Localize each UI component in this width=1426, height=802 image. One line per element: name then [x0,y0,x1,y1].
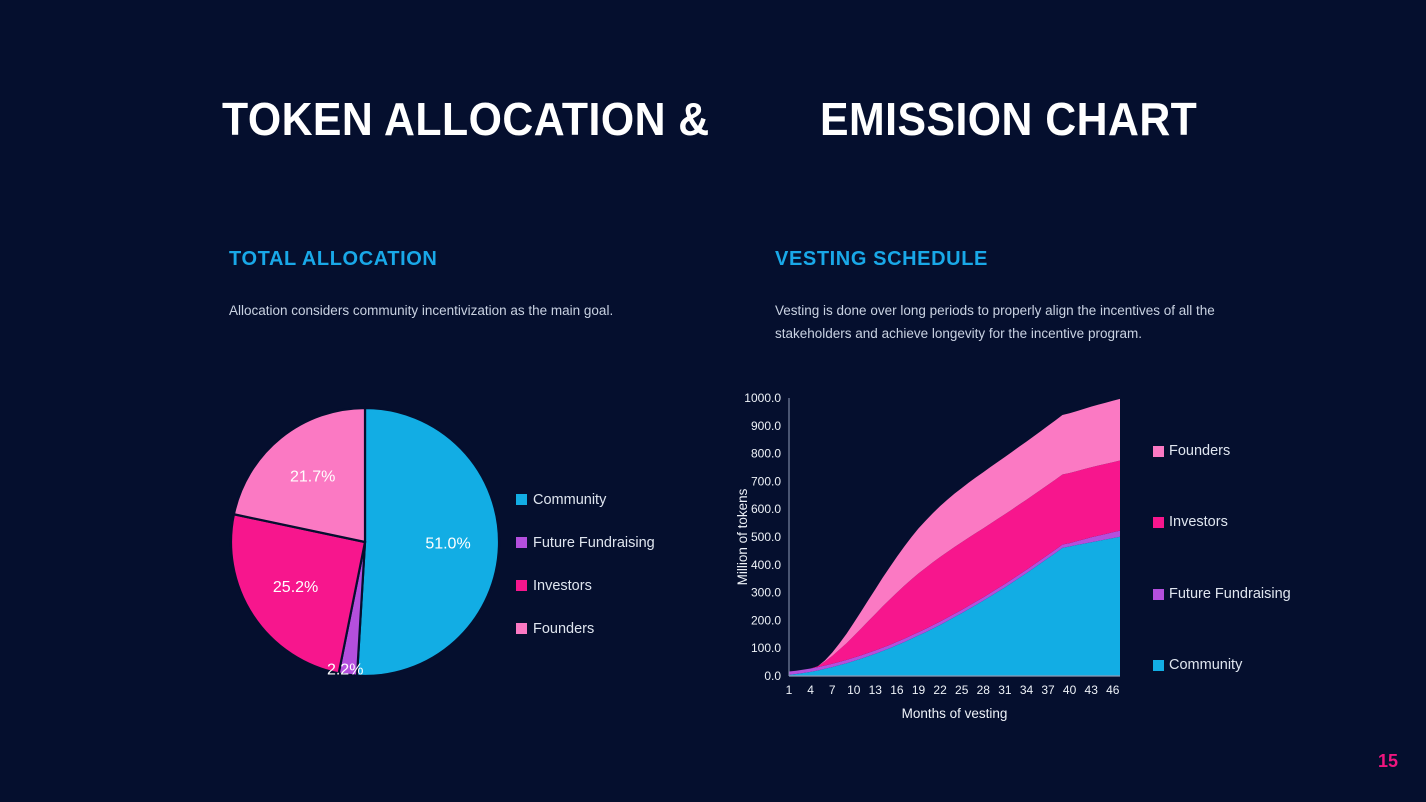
legend-label-investors: Investors [533,578,592,594]
area-legend-item-founders[interactable]: Founders [1153,443,1230,459]
legend-swatch-founders [516,623,527,634]
area-chart-svg: 0.0100.0200.0300.0400.0500.0600.0700.080… [735,388,1135,723]
x-tick-label: 31 [998,683,1012,697]
legend-item-investors[interactable]: Investors [516,564,655,607]
x-tick-label: 22 [933,683,947,697]
y-tick-label: 200.0 [751,613,781,627]
legend-swatch-community [516,494,527,505]
x-tick-label: 37 [1041,683,1055,697]
x-tick-label: 10 [847,683,861,697]
area-legend-swatch-future-fundraising [1153,589,1164,600]
area-legend-swatch-founders [1153,446,1164,457]
allocation-pie-chart: 51.0%2.2%25.2%21.7% Community Future Fun… [225,392,690,692]
total-allocation-panel: TOTAL ALLOCATION Allocation considers co… [229,249,649,322]
legend-item-founders[interactable]: Founders [516,607,655,650]
legend-item-future-fundraising[interactable]: Future Fundraising [516,521,655,564]
vesting-area-chart: 0.0100.0200.0300.0400.0500.0600.0700.080… [735,388,1295,723]
pie-percent-label: 21.7% [290,469,335,486]
x-tick-label: 19 [912,683,926,697]
pie-percent-label: 51.0% [425,536,470,553]
y-tick-label: 300.0 [751,586,781,600]
area-legend-swatch-community [1153,660,1164,671]
y-tick-label: 100.0 [751,641,781,655]
vesting-schedule-heading: VESTING SCHEDULE [775,249,1235,269]
pie-percent-label: 2.2% [327,662,363,679]
pie-chart-legend: Community Future Fundraising Investors F… [516,478,655,650]
x-tick-label: 28 [977,683,991,697]
y-tick-label: 700.0 [751,474,781,488]
total-allocation-body: Allocation considers community incentivi… [229,299,634,322]
total-allocation-heading: TOTAL ALLOCATION [229,249,649,269]
x-tick-label: 25 [955,683,969,697]
slide-title-part-2: EMISSION CHART [820,96,1197,142]
x-tick-label: 34 [1020,683,1034,697]
x-axis-title: Months of vesting [902,706,1008,721]
area-band-group [789,399,1120,676]
y-tick-label: 1000.0 [744,391,781,405]
area-legend-swatch-investors [1153,517,1164,528]
y-tick-label: 500.0 [751,530,781,544]
y-axis-title: Million of tokens [735,488,750,585]
page-number: 15 [1378,751,1398,772]
x-tick-label: 46 [1106,683,1120,697]
y-tick-label: 900.0 [751,419,781,433]
vesting-schedule-panel: VESTING SCHEDULE Vesting is done over lo… [775,249,1235,345]
area-legend-item-future-fundraising[interactable]: Future Fundraising [1153,586,1291,602]
legend-swatch-investors [516,580,527,591]
slide-canvas: TOKEN ALLOCATION & EMISSION CHART TOTAL … [0,0,1426,802]
x-tick-label: 4 [807,683,814,697]
area-legend-item-investors[interactable]: Investors [1153,514,1228,530]
legend-item-community[interactable]: Community [516,478,655,521]
y-tick-label: 800.0 [751,447,781,461]
pie-percent-label: 25.2% [273,579,318,596]
legend-swatch-future-fundraising [516,537,527,548]
area-legend-item-community[interactable]: Community [1153,657,1242,673]
y-tick-label: 400.0 [751,558,781,572]
legend-label-founders: Founders [533,621,594,637]
x-tick-label: 1 [786,683,793,697]
area-legend-label-future-fundraising: Future Fundraising [1169,586,1291,602]
y-tick-label: 600.0 [751,502,781,516]
x-tick-label: 43 [1085,683,1099,697]
slide-title-part-1: TOKEN ALLOCATION & [222,96,710,142]
legend-label-community: Community [533,492,606,508]
area-legend-label-investors: Investors [1169,514,1228,530]
x-tick-label: 13 [869,683,883,697]
x-tick-label: 40 [1063,683,1077,697]
x-tick-label: 7 [829,683,836,697]
x-tick-label-group: 14710131619222528313437404346 [786,683,1120,697]
x-tick-label: 16 [890,683,904,697]
legend-label-future-fundraising: Future Fundraising [533,535,655,551]
vesting-schedule-body: Vesting is done over long periods to pro… [775,299,1223,345]
pie-chart-svg: 51.0%2.2%25.2%21.7% [225,392,505,692]
area-legend-label-community: Community [1169,657,1242,673]
area-legend-label-founders: Founders [1169,443,1230,459]
y-tick-label: 0.0 [764,669,781,683]
slide-title: TOKEN ALLOCATION & EMISSION CHART [222,96,1226,142]
